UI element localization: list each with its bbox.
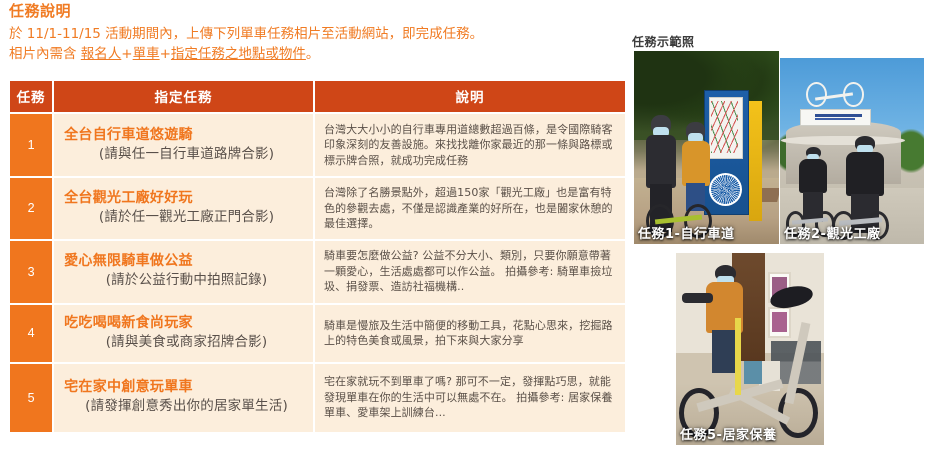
task-description: 騎車要怎麼做公益? 公益不分大小、類別，只要你願意帶著一顆愛心，生活處處都可以作… [315,241,625,303]
sculpture-wheel-left [806,82,827,107]
saddle [768,283,814,312]
task-number: 3 [10,241,52,303]
task-subtitle: (請於任一觀光工廠正門合影) [64,208,309,227]
folding-bicycle [679,284,821,441]
table-row: 5 宅在家中創意玩單車 (請發揮創意秀出你的居家單生活) 宅在家就玩不到單車了嗎… [10,364,625,432]
column-header-no: 任務 [10,81,52,112]
sample-photo-task2[interactable]: 任務2-觀光工廠 [780,58,924,244]
task-name-cell: 全台自行車道悠遊騎 (請與任一自行車道路牌合影) [54,114,313,176]
wheel-rear [778,388,818,438]
museum-sign [800,109,871,126]
sample-photo-task1[interactable]: 任務1-自行車道 [634,51,779,244]
photo-caption: 任務1-自行車道 [638,223,734,242]
table-row: 2 全台觀光工廠好好玩 (請於任一觀光工廠正門合影) 台灣除了名勝景點外，超過1… [10,178,625,239]
task-number: 4 [10,305,52,362]
torso [799,159,827,193]
photo-caption: 任務2-觀光工廠 [784,223,880,242]
intro-underline-bicycle: 單車 [133,46,160,62]
task-name-cell: 宅在家中創意玩單車 (請發揮創意秀出你的居家單生活) [54,364,313,432]
task-subtitle: (請於公益行動中拍照記錄) [64,271,309,290]
torso [682,141,710,186]
task-title: 全台觀光工廠好好玩 [64,189,309,208]
intro-plus-1: + [121,46,132,62]
intro-line-2-prefix: 相片內需含 [9,46,81,62]
task-title: 宅在家中創意玩單車 [64,378,309,397]
task-table: 任務 指定任務 說明 1 全台自行車道悠遊騎 (請與任一自行車道路牌合影) 台灣… [8,79,627,434]
task-subtitle: (請發揮創意秀出你的居家單生活) [64,397,309,416]
task-subtitle: (請與美食或商家招牌合影) [64,333,309,352]
sample-photo-task5[interactable]: 任務5-居家保養 [676,253,824,445]
task-number: 2 [10,178,52,239]
intro-plus-2: + [160,46,171,62]
intro-paragraph: 於 11/1-11/15 活動期間內，上傳下列單車任務相片至活動網站，即完成任務… [9,24,621,64]
task-description: 台灣大大小小的自行車專用道總數超過百條，是令國際騎客印象深刻的友善設施。來找找離… [315,114,625,176]
task-title: 全台自行車道悠遊騎 [64,126,309,145]
rooftop-bicycle-sculpture [806,78,864,108]
task-name-cell: 吃吃喝喝新食尚玩家 (請與美食或商家招牌合影) [54,305,313,362]
yellow-post [749,101,762,221]
intro-line-2-suffix: 。 [306,46,320,62]
sign-text-line-2 [815,118,855,120]
table-row: 1 全台自行車道悠遊騎 (請與任一自行車道路牌合影) 台灣大大小小的自行車專用道… [10,114,625,176]
floor-pump [735,318,741,395]
intro-line-1: 於 11/1-11/15 活動期間內，上傳下列單車任務相片至活動網站，即完成任務… [9,24,621,44]
sample-photo-panel: 任務示範照 [630,0,928,453]
route-map-lines [711,101,739,153]
task-description: 騎車是慢旅及生活中簡便的移動工具，花點心思來，挖掘路上的特色美食或風景，拍下來與… [315,305,625,362]
task-name-cell: 全台觀光工廠好好玩 (請於任一觀光工廠正門合影) [54,178,313,239]
page-title: 任務說明 [9,1,71,21]
handlebar [682,293,713,302]
task-subtitle: (請與任一自行車道路牌合影) [64,145,309,164]
task-description: 宅在家就玩不到單車了嗎? 那可不一定，發揮點巧思，就能發現單車在你的生活中可以無… [315,364,625,432]
task-title: 吃吃喝喝新食尚玩家 [64,314,309,333]
sample-photos-label: 任務示範照 [632,33,695,50]
table-row: 3 愛心無限騎車做公益 (請於公益行動中拍照記錄) 騎車要怎麼做公益? 公益不分… [10,241,625,303]
table-header-row: 任務 指定任務 說明 [10,81,625,112]
torso [646,135,676,188]
wheel-graphic [709,173,742,206]
left-panel: 任務說明 於 11/1-11/15 活動期間內，上傳下列單車任務相片至活動網站，… [0,0,630,453]
task-description: 台灣除了名勝景點外，超過150家「觀光工廠」也是富有特色的參觀去處，不僅是認識產… [315,178,625,239]
intro-line-2: 相片內需含 報名人+單車+指定任務之地點或物件。 [9,44,621,64]
photo-caption: 任務5-居家保養 [680,424,776,443]
column-header-desc: 說明 [315,81,625,112]
task-title: 愛心無限騎車做公益 [64,252,309,271]
task-number: 1 [10,114,52,176]
task-description-page: 任務說明 於 11/1-11/15 活動期間內，上傳下列單車任務相片至活動網站，… [0,0,928,453]
column-header-task: 指定任務 [54,81,313,112]
intro-underline-location: 指定任務之地點或物件 [171,46,306,62]
intro-underline-registrant: 報名人 [81,46,122,62]
table-row: 4 吃吃喝喝新食尚玩家 (請與美食或商家招牌合影) 騎車是慢旅及生活中簡便的移動… [10,305,625,362]
task-name-cell: 愛心無限騎車做公益 (請於公益行動中拍照記錄) [54,241,313,303]
sign-text-line-1 [815,114,862,116]
task-number: 5 [10,364,52,432]
